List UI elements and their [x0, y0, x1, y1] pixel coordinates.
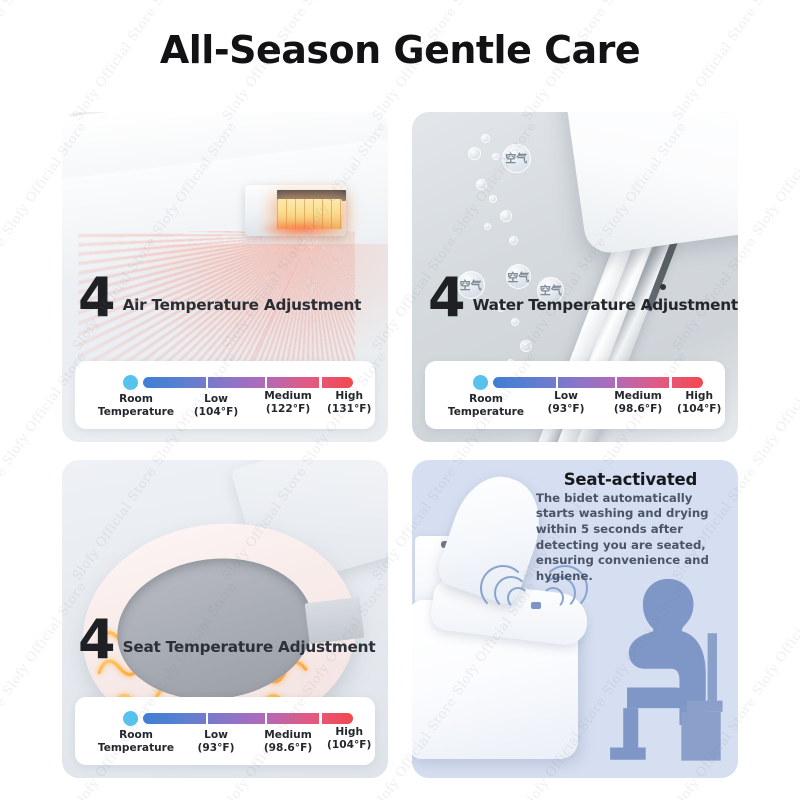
scale-item-medium: Medium (98.6°F): [599, 390, 677, 415]
water-bubble: [509, 236, 518, 245]
sensor-icon: [531, 602, 541, 609]
seat-activated-callout: Seat-activated The bidet automatically s…: [536, 470, 725, 585]
scale-label: Room: [119, 729, 153, 741]
watermark-text: Slofy Official Store: [750, 0, 800, 9]
watermark-text: Slofy Official Store: [0, 694, 10, 800]
scale-value: (98.6°F): [599, 403, 677, 416]
scale-tick: [319, 713, 321, 724]
scale-labels: Room Temperature Low (93°F) Medium (98.6…: [439, 393, 711, 418]
scale-tick: [615, 377, 617, 388]
water-bubble: [476, 179, 487, 190]
scale-bar-row: [89, 711, 361, 726]
scale-value: (122°F): [249, 403, 327, 416]
scale-bar-row: [89, 375, 361, 390]
feature-panel-grid: 4 Air Temperature Adjustment Room Temper…: [62, 112, 738, 778]
panel-number: 4: [78, 276, 116, 320]
air-temperature-scale-card: Room Temperature Low (104°F) Medium (122…: [75, 361, 375, 429]
watermark-text: Slofy Official Store: [0, 234, 10, 353]
scale-label: Room: [119, 393, 153, 405]
panel-number: 4: [428, 276, 466, 320]
scale-label-2: Temperature: [439, 406, 533, 419]
panel-heading-seat: 4 Seat Temperature Adjustment: [78, 618, 375, 662]
scale-item-high: High (104°F): [327, 726, 371, 751]
scale-tick: [265, 713, 267, 724]
scale-label-2: Temperature: [89, 742, 183, 755]
callout-title: Seat-activated: [536, 470, 725, 489]
scale-label: Medium: [614, 390, 662, 402]
scale-label: Low: [204, 729, 228, 741]
room-temperature-dot-icon: [473, 375, 488, 390]
scale-label: Medium: [264, 390, 312, 402]
scale-value: (104°F): [327, 739, 371, 752]
water-bubble: [520, 340, 532, 352]
scale-label: High: [335, 726, 363, 738]
callout-body: The bidet automatically starts washing a…: [536, 491, 725, 585]
panel-seat-activated: Seat-activated The bidet automatically s…: [412, 460, 738, 778]
watermark-text: Slofy Official Store: [750, 349, 800, 468]
panel-label: Water Temperature Adjustment: [473, 296, 738, 320]
scale-tick: [556, 377, 558, 388]
room-temperature-dot-icon: [123, 375, 138, 390]
panel-label: Seat Temperature Adjustment: [123, 638, 376, 662]
scale-label: Medium: [264, 729, 312, 741]
water-bubble: [481, 134, 490, 143]
watermark-text: Slofy Official Store: [750, 119, 800, 238]
scale-value: (98.6°F): [249, 742, 327, 755]
panel-water-temperature: 空气 空气 空气 空气 4 Water Tempera: [412, 112, 738, 442]
panel-label: Air Temperature Adjustment: [123, 296, 362, 320]
panel-number: 4: [78, 618, 116, 662]
water-bubble: [484, 223, 491, 230]
scale-item-room: Room Temperature: [89, 729, 183, 754]
watermark-text: Slofy Official Store: [750, 579, 800, 698]
page-title: All-Season Gentle Care: [0, 28, 800, 72]
scale-bar-row: [439, 375, 711, 390]
panel-air-temperature: 4 Air Temperature Adjustment Room Temper…: [62, 112, 388, 442]
scale-item-low: Low (93°F): [533, 390, 599, 415]
temperature-gradient-bar[interactable]: [143, 713, 353, 724]
watermark-text: Slofy Official Store: [450, 0, 540, 9]
seated-person-illustration: [582, 571, 732, 768]
scale-item-room: Room Temperature: [89, 393, 183, 418]
scale-value: (93°F): [183, 742, 249, 755]
scale-tick: [265, 377, 267, 388]
seat-temperature-scale-card: Room Temperature Low (93°F) Medium (98.6…: [75, 697, 375, 765]
air-bubble-labeled: 空气: [502, 144, 531, 173]
scale-tick: [319, 377, 321, 388]
scale-tick: [669, 377, 671, 388]
watermark-text: Slofy Official Store: [0, 0, 90, 9]
scale-labels: Room Temperature Low (104°F) Medium (122…: [89, 393, 361, 418]
watermark-text: Slofy Official Store: [600, 0, 690, 9]
scale-label: High: [685, 390, 713, 402]
scale-label-2: Temperature: [89, 406, 183, 419]
scale-labels: Room Temperature Low (93°F) Medium (98.6…: [89, 729, 361, 754]
bidet-lid: [564, 112, 738, 256]
scale-value: (131°F): [327, 403, 371, 416]
room-temperature-dot-icon: [123, 711, 138, 726]
scale-item-medium: Medium (98.6°F): [249, 729, 327, 754]
scale-label: Room: [469, 393, 503, 405]
scale-value: (104°F): [183, 406, 249, 419]
scale-item-low: Low (93°F): [183, 729, 249, 754]
panel-heading-water: 4 Water Temperature Adjustment: [428, 276, 738, 320]
scale-item-room: Room Temperature: [439, 393, 533, 418]
scale-item-low: Low (104°F): [183, 393, 249, 418]
water-temperature-scale-card: Room Temperature Low (93°F) Medium (98.6…: [425, 361, 725, 429]
scale-item-high: High (104°F): [677, 390, 721, 415]
scale-tick: [206, 713, 208, 724]
scale-label: Low: [204, 393, 228, 405]
scale-value: (93°F): [533, 403, 599, 416]
scale-value: (104°F): [677, 403, 721, 416]
heat-glow: [258, 221, 343, 238]
scale-item-medium: Medium (122°F): [249, 390, 327, 415]
scale-label: High: [335, 390, 363, 402]
panel-heading-air: 4 Air Temperature Adjustment: [78, 276, 361, 320]
scale-tick: [206, 377, 208, 388]
water-bubble: [489, 195, 497, 203]
scale-label: Low: [554, 390, 578, 402]
temperature-gradient-bar[interactable]: [143, 377, 353, 388]
watermark-text: Slofy Official Store: [0, 464, 10, 583]
panel-seat-temperature: 4 Seat Temperature Adjustment Room Tempe…: [62, 460, 388, 778]
water-bubble: [492, 153, 499, 160]
temperature-gradient-bar[interactable]: [493, 377, 703, 388]
water-bubble: [468, 147, 481, 160]
watermark-text: Slofy Official Store: [150, 0, 240, 9]
water-bubble: [500, 210, 512, 222]
watermark-text: Slofy Official Store: [300, 0, 390, 9]
bubble-label: 空气: [505, 150, 527, 166]
scale-item-high: High (131°F): [327, 390, 371, 415]
